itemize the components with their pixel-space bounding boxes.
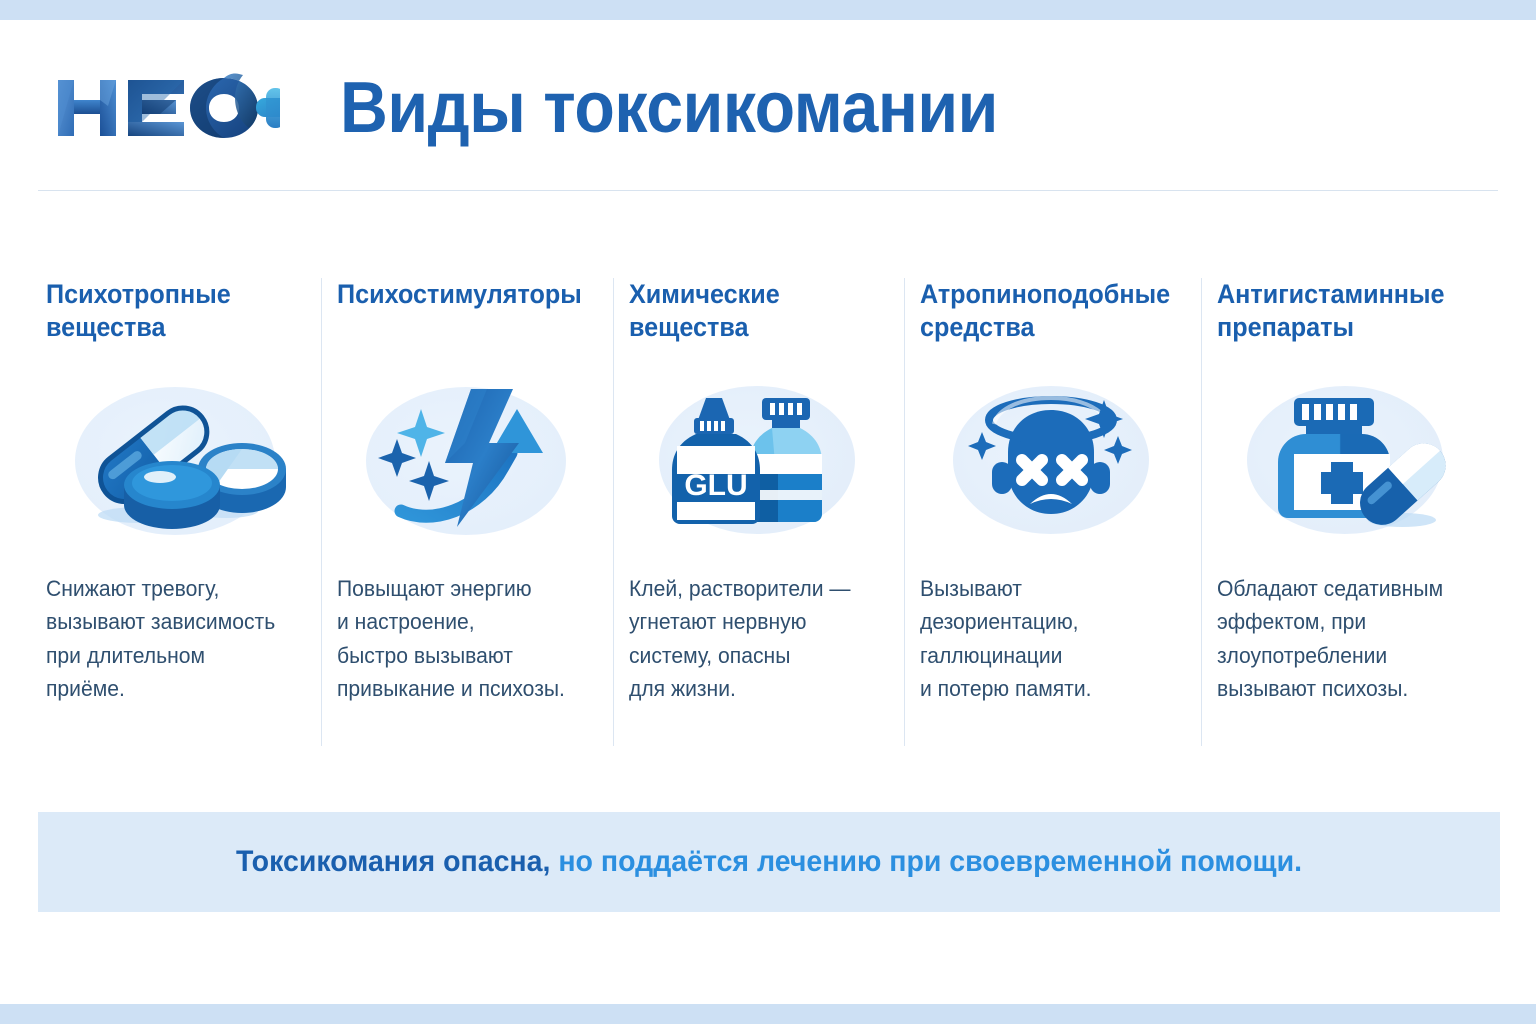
- category-text-psychotropic: Снижают тревогу, вызывают зависимость пр…: [46, 572, 293, 706]
- bottom-accent-band: [0, 1004, 1536, 1024]
- dizzy-face-icon: [920, 370, 1183, 550]
- category-text-chemical-substances: Клей, растворители — угнетают нервную си…: [629, 572, 876, 706]
- category-card-antihistamines[interactable]: Антигистаминные препараты: [1209, 278, 1500, 746]
- lightning-bolt-sparkles-arrow-icon: [337, 370, 595, 550]
- footer-message-light: но поддаётся лечению при своевременной п…: [550, 845, 1302, 878]
- pills-capsule-tablets-icon: [46, 370, 303, 550]
- category-title-atropine-like: Атропиноподобные средства: [920, 278, 1170, 348]
- category-text-antihistamines: Обладают седативным эффектом, при злоупо…: [1217, 572, 1464, 706]
- glue-bottle-solvent-icon: GLU: [629, 370, 886, 550]
- category-title-psychostimulants: Психостимуляторы: [337, 278, 582, 348]
- header-divider: [38, 190, 1498, 191]
- top-accent-band: [0, 0, 1536, 20]
- category-title-antihistamines: Антигистаминные препараты: [1217, 278, 1461, 348]
- category-card-psychotropic[interactable]: Психотропные вещества: [38, 278, 329, 746]
- footer-message: Токсикомания опасна, но поддаётся лечени…: [236, 847, 1302, 877]
- infographic-page: Виды токсикомании Психотропные вещества: [0, 0, 1536, 1024]
- neo-plus-logo[interactable]: [44, 68, 280, 148]
- category-title-chemical-substances: Химические вещества: [629, 278, 873, 348]
- page-header: Виды токсикомании: [0, 20, 1536, 195]
- category-card-psychostimulants[interactable]: Психостимуляторы: [329, 278, 621, 746]
- footer-banner: Токсикомания опасна, но поддаётся лечени…: [38, 812, 1500, 912]
- footer-message-strong: Токсикомания опасна,: [236, 845, 550, 878]
- category-text-atropine-like: Вызывают дезориентацию, галлюцинации и п…: [920, 572, 1173, 706]
- medicine-bottle-capsule-icon: [1217, 370, 1474, 550]
- category-title-psychotropic: Психотропные вещества: [46, 278, 290, 348]
- category-card-atropine-like[interactable]: Атропиноподобные средства: [912, 278, 1209, 746]
- page-title: Виды токсикомании: [340, 72, 998, 144]
- category-card-chemical-substances[interactable]: Химические вещества: [621, 278, 912, 746]
- glue-label: GLU: [685, 469, 748, 502]
- category-text-psychostimulants: Повыщают энергию и настроение, быстро вы…: [337, 572, 584, 706]
- categories-row: Психотропные вещества: [38, 278, 1500, 746]
